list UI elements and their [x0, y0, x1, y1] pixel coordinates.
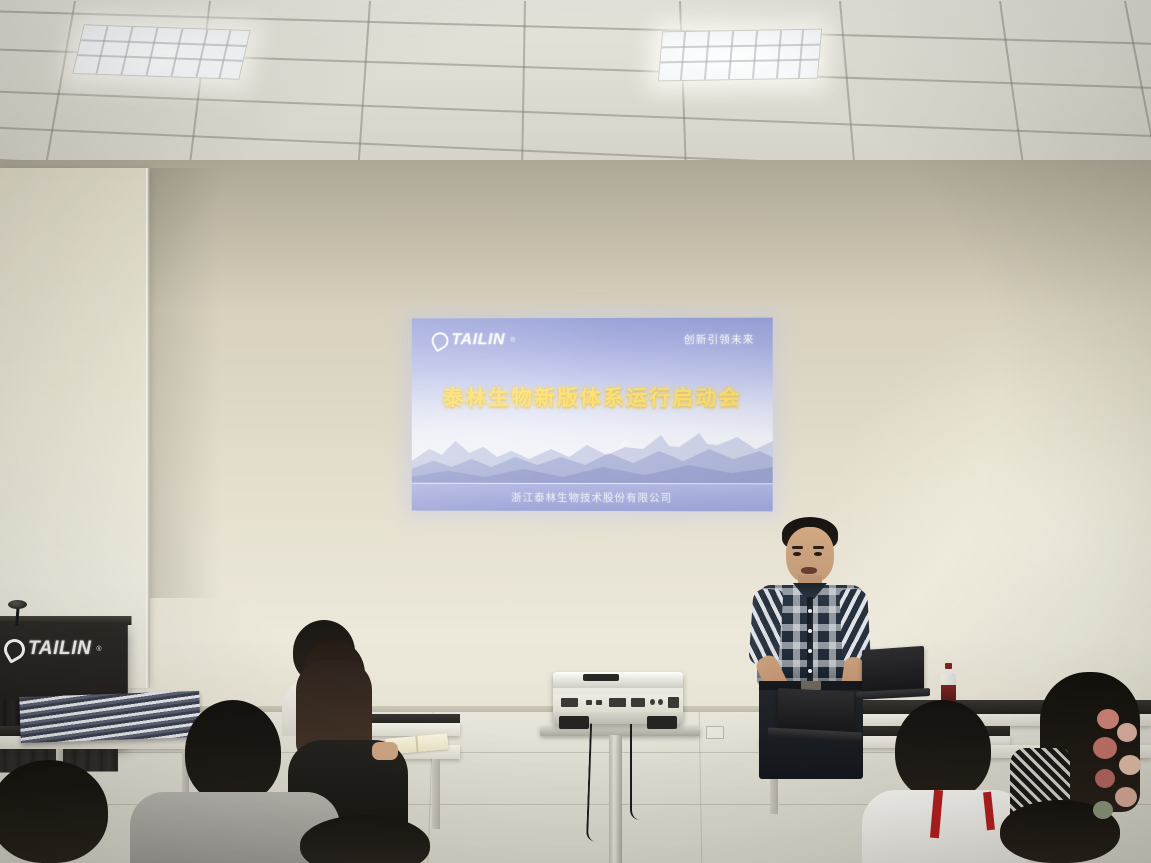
- lectern-droplet-icon: [0, 635, 29, 664]
- flower: [1095, 769, 1115, 788]
- port-icon: [658, 699, 663, 705]
- slide-logo-text: TAILIN: [451, 331, 505, 349]
- flower: [1097, 709, 1119, 729]
- slide-mountain-graphic: [412, 391, 773, 483]
- projector-foot: [647, 716, 677, 729]
- flower: [1093, 801, 1113, 819]
- vga-port-icon: [609, 698, 626, 707]
- bottle-cap: [945, 663, 952, 669]
- projector-foot: [559, 716, 589, 729]
- lectern-logo-text: TAILIN: [28, 638, 91, 660]
- audience-head: [0, 760, 108, 863]
- microphone-icon: [8, 600, 27, 609]
- port-icon: [596, 700, 602, 705]
- shirt-button: [808, 609, 812, 613]
- shirt-button: [808, 629, 812, 633]
- lectern-registered-icon: ®: [96, 646, 101, 653]
- presenter-mouth: [801, 567, 817, 574]
- registered-trademark-icon: ®: [510, 337, 516, 344]
- projected-slide: TAILIN ® 创新引领未来 泰林生物新版体系运行启动会 浙江泰林生物技术股份…: [412, 318, 773, 512]
- shirt-button: [808, 649, 812, 653]
- presenter-eye: [793, 552, 801, 556]
- flower: [1093, 737, 1117, 759]
- vent-grill-icon: [668, 697, 679, 708]
- slide-footer-band: 浙江泰林生物技术股份有限公司: [412, 484, 773, 512]
- lectern-tailin-logo: TAILIN ®: [4, 638, 102, 660]
- ceiling-light-right: [658, 29, 822, 82]
- desk-leg: [432, 759, 440, 829]
- vga-port-icon: [561, 698, 578, 707]
- slide-tailin-logo: TAILIN ®: [432, 331, 516, 349]
- photo-scene: TAILIN ® 创新引领未来 泰林生物新版体系运行启动会 浙江泰林生物技术股份…: [0, 0, 1151, 863]
- vga-port-icon: [631, 698, 645, 707]
- shirt-button: [808, 669, 812, 673]
- projector-power-cable: [586, 724, 618, 843]
- audience-head: [895, 700, 991, 800]
- projector: [553, 672, 683, 724]
- presenter-eyebrow: [792, 546, 803, 549]
- floral-arrangement: [1091, 705, 1151, 835]
- wall-outlet: [706, 726, 724, 739]
- ceiling-light-left: [72, 24, 250, 79]
- audience-head: [185, 700, 281, 804]
- projector-handle: [583, 674, 619, 681]
- port-icon: [650, 699, 655, 705]
- slide-company-name: 浙江泰林生物技术股份有限公司: [511, 490, 672, 505]
- presenter-eye: [814, 552, 822, 556]
- projector-port-panel: [553, 694, 683, 712]
- folder-stack: [19, 691, 200, 743]
- flower: [1115, 787, 1137, 807]
- wall-corner-shadow: [150, 168, 220, 598]
- laptop-screen-front: [778, 688, 854, 734]
- audience-hand: [372, 742, 398, 760]
- tailin-droplet-icon: [429, 329, 452, 352]
- presenter-left-sleeve: [748, 588, 783, 666]
- presenter-eyebrow: [813, 546, 824, 549]
- projector-signal-cable: [630, 724, 646, 820]
- slide-tagline: 创新引领未来: [684, 332, 755, 347]
- left-wall: [0, 168, 148, 688]
- flower: [1119, 755, 1141, 775]
- ceiling: [0, 0, 1151, 186]
- flower: [1117, 723, 1137, 742]
- port-icon: [586, 700, 592, 705]
- laptop-screen-presenter: [862, 646, 924, 694]
